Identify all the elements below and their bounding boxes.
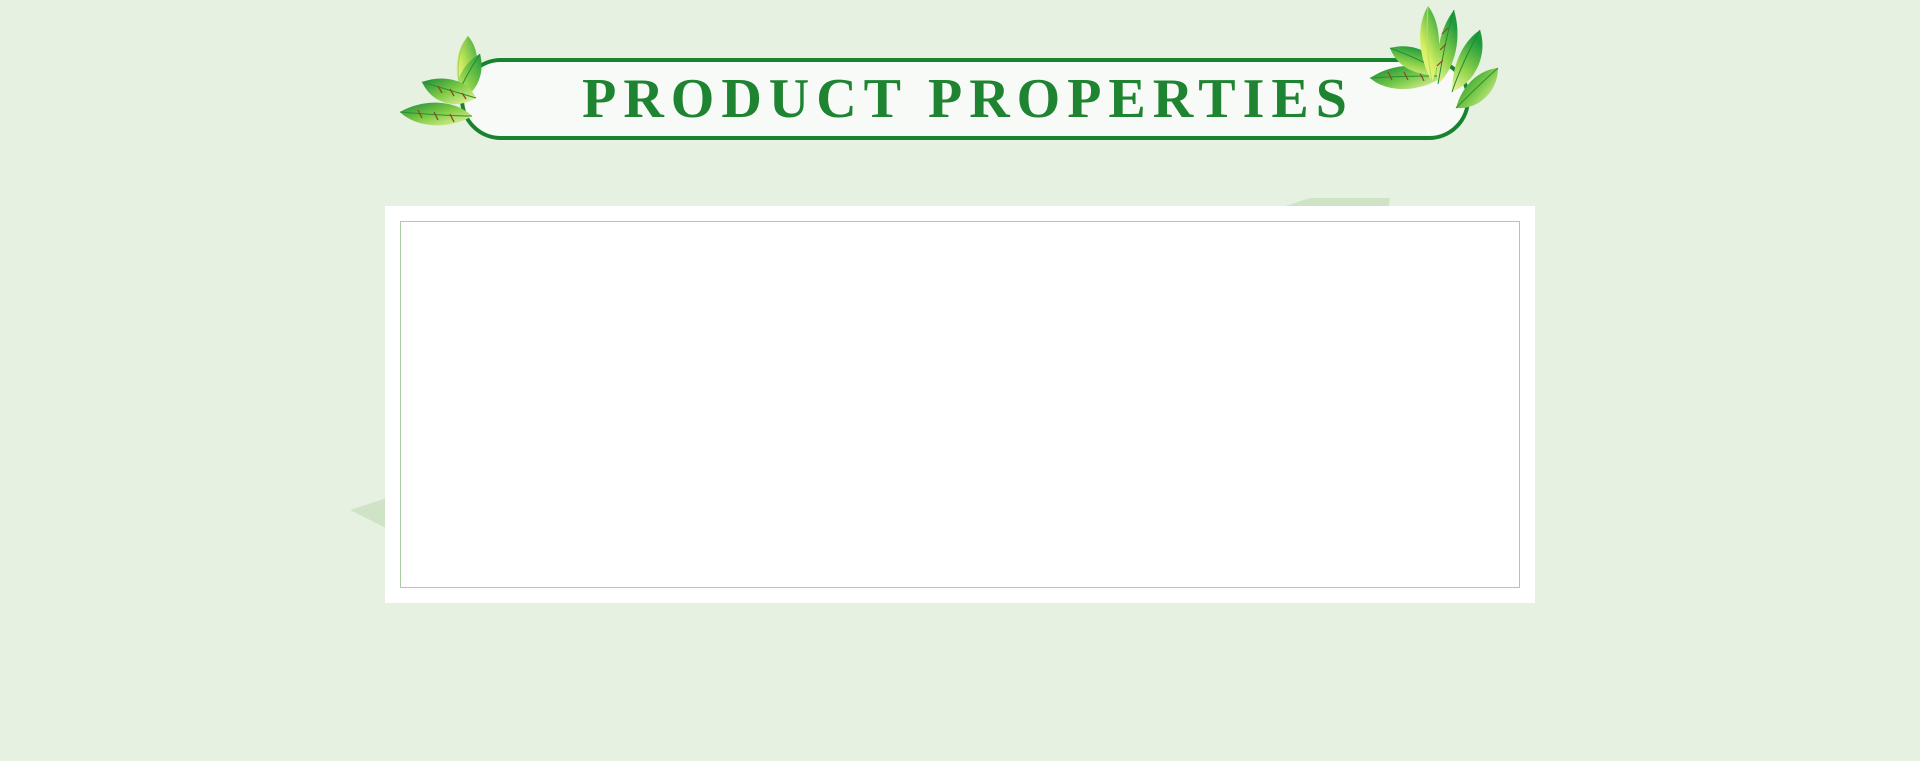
banner-pill: PRODUCT PROPERTIES	[460, 58, 1470, 140]
properties-card	[385, 206, 1535, 603]
page-header-banner: PRODUCT PROPERTIES	[400, 4, 1500, 152]
product-properties-page: PRODUCT PROPERTIES	[0, 0, 1920, 761]
page-title: PRODUCT PROPERTIES	[576, 71, 1354, 127]
properties-card-inner-border	[400, 221, 1520, 588]
